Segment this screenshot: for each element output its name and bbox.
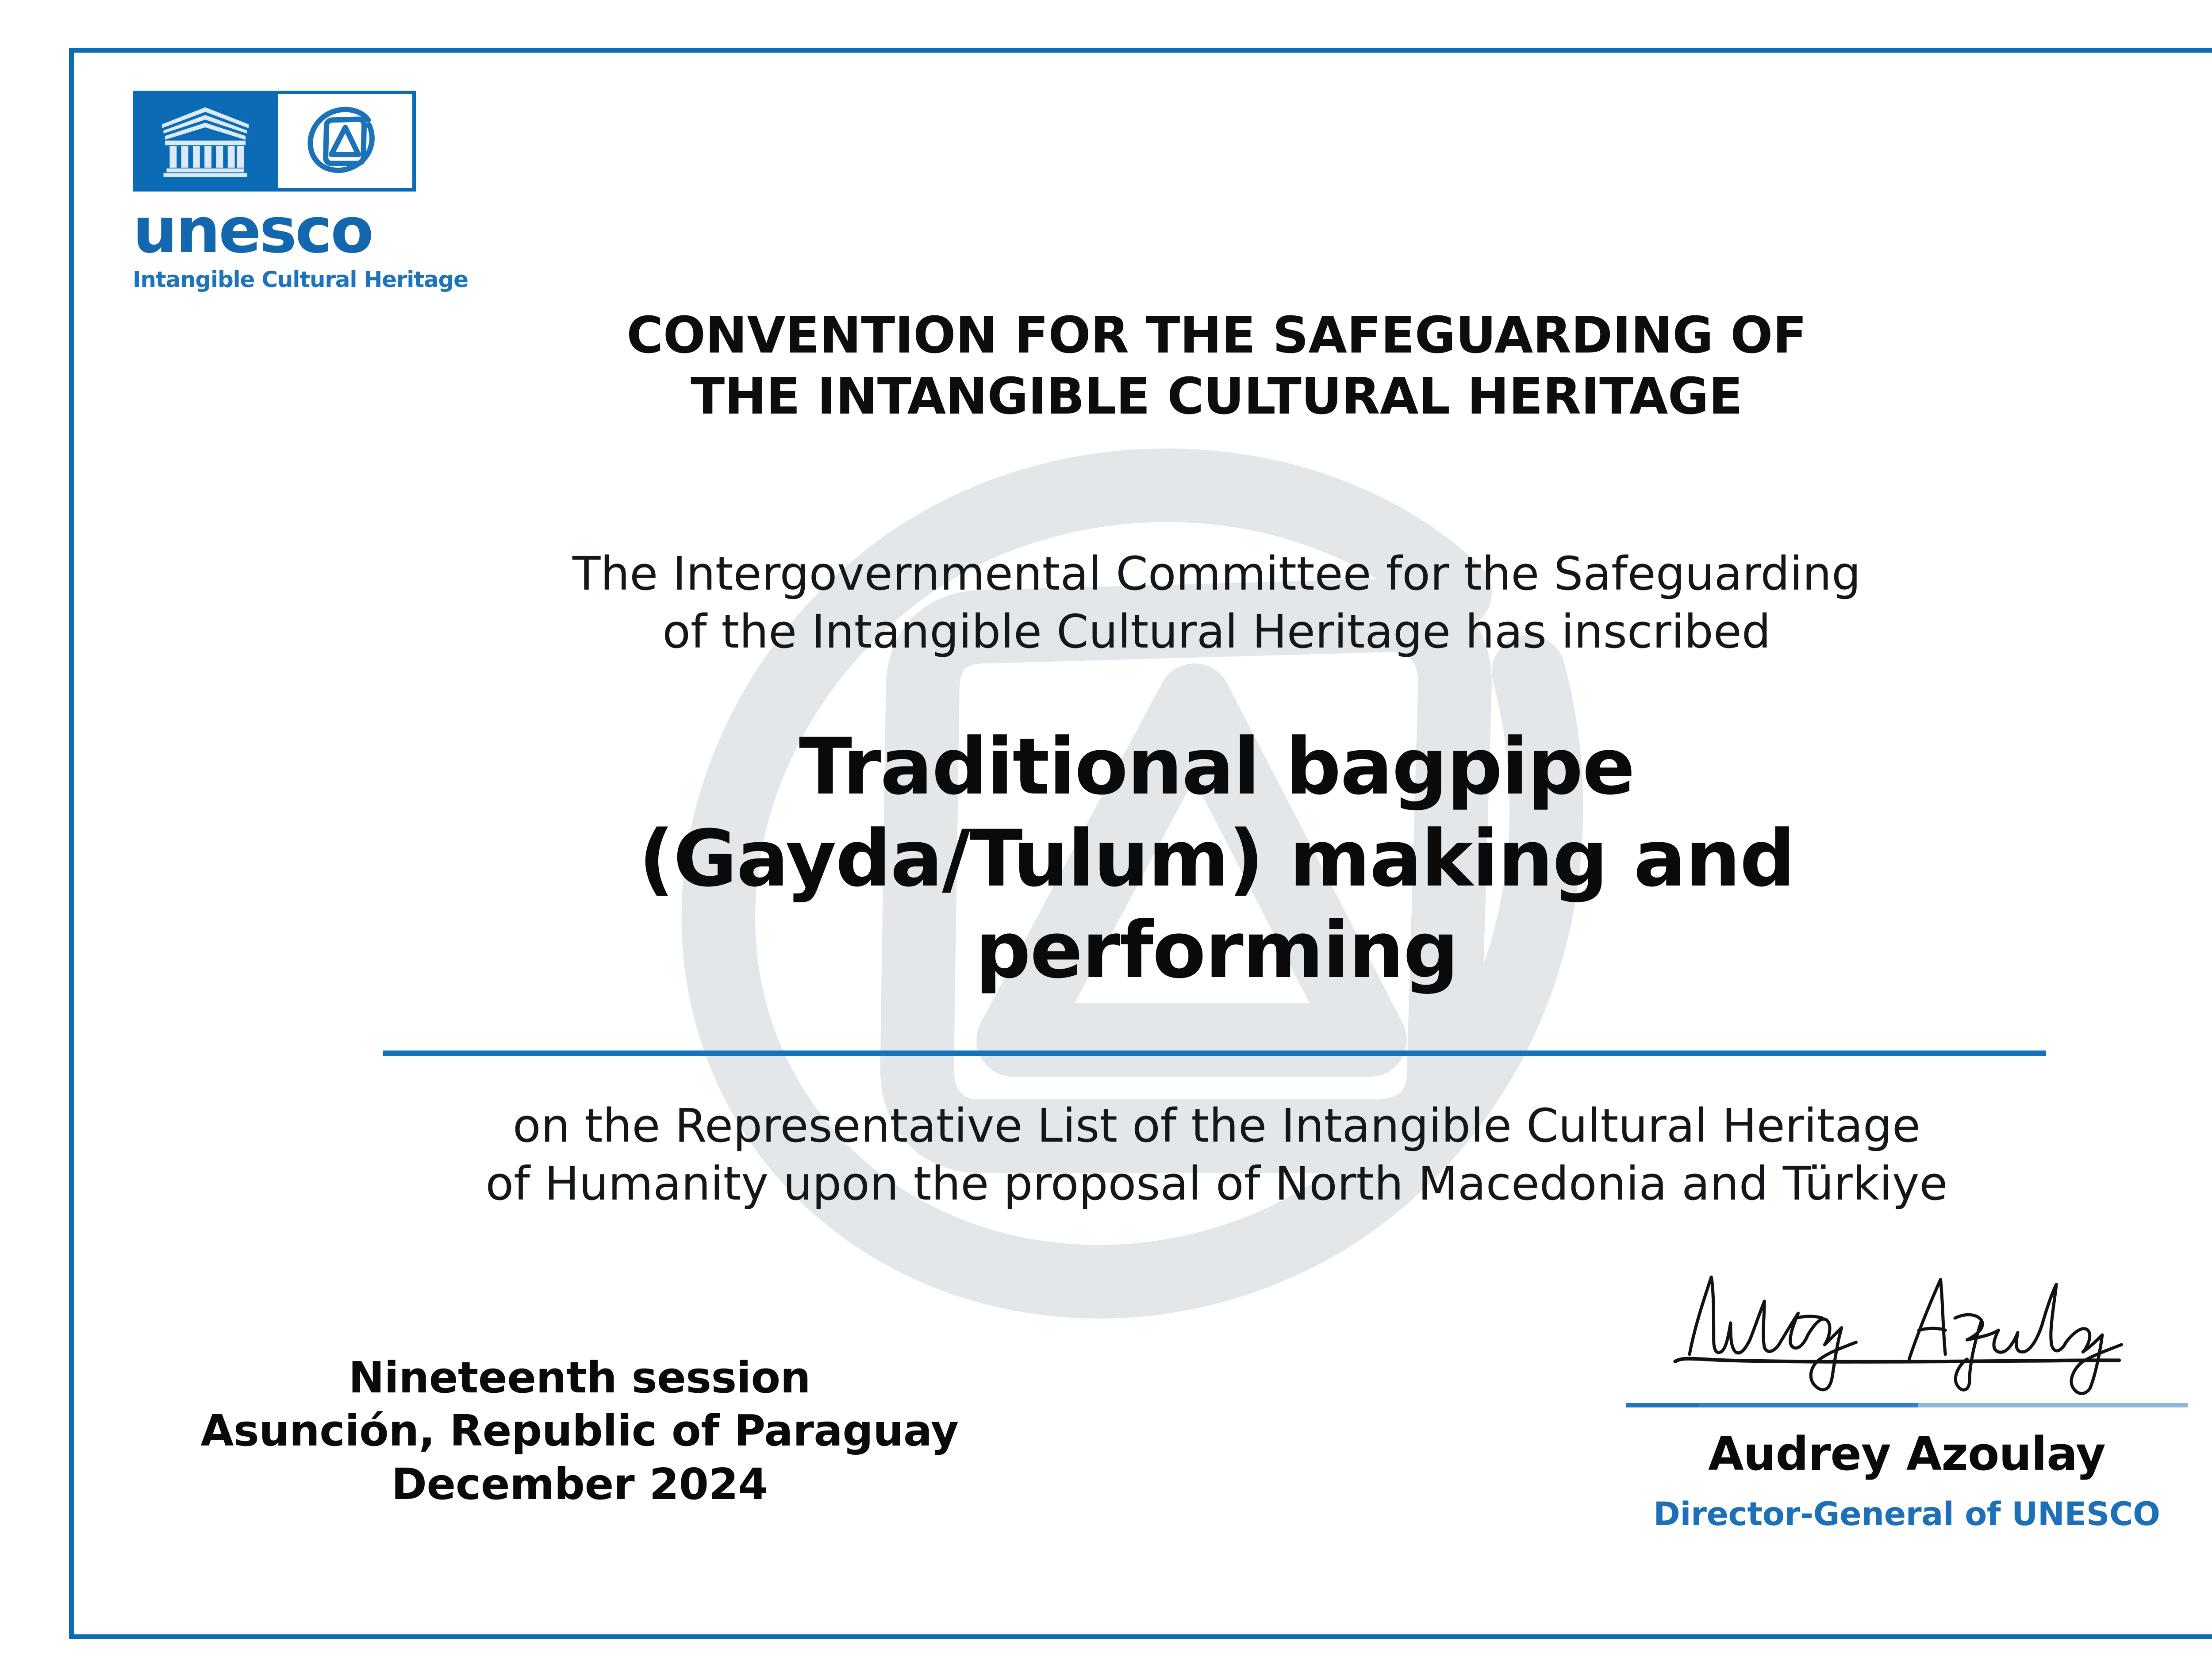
certificate-border	[69, 48, 2212, 1639]
certificate-page: unesco Intangible Cultural Heritage CONV…	[0, 0, 2212, 1664]
